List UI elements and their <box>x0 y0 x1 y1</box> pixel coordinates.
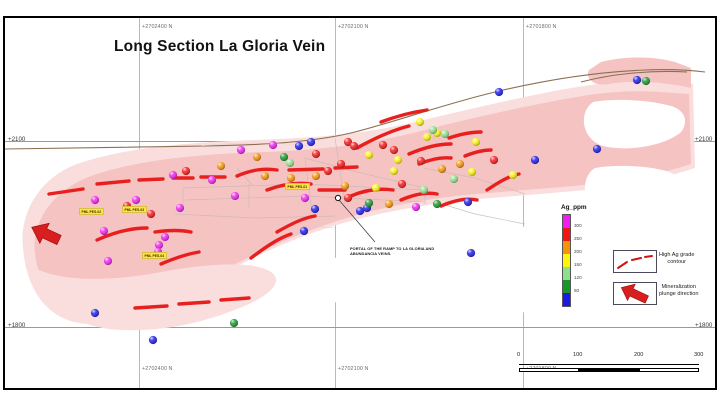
assay-point <box>467 249 475 257</box>
assay-point <box>433 200 441 208</box>
scale-bar-segment-3 <box>639 368 699 372</box>
legend-label-line1: Mineralization <box>659 284 699 291</box>
assay-point <box>100 227 108 235</box>
assay-point <box>155 241 163 249</box>
assay-point <box>394 156 402 164</box>
northing-label-top-1: +2702400 N <box>142 24 173 30</box>
assay-point <box>324 167 332 175</box>
scale-tick-3: 300 <box>694 352 703 358</box>
assay-point <box>438 165 446 173</box>
scale-bar-segment-2 <box>579 368 639 372</box>
assay-point <box>593 145 601 153</box>
assay-point <box>429 126 437 134</box>
assay-point <box>379 141 387 149</box>
assay-point <box>356 207 364 215</box>
assay-point <box>307 138 315 146</box>
assay-point <box>390 167 398 175</box>
drill-hole-label: PML PES-01 <box>285 183 310 190</box>
assay-point <box>464 198 472 206</box>
assay-point <box>365 151 373 159</box>
assay-point <box>341 182 349 190</box>
drill-hole-label: PML PES-03 <box>122 206 147 213</box>
assay-point <box>161 233 169 241</box>
assay-point <box>286 159 294 167</box>
colorbar-title: Ag_ppm <box>561 204 587 211</box>
northing-label-top-3: +2701800 N <box>526 24 557 30</box>
assay-point <box>441 130 449 138</box>
colorbar-segment <box>563 267 570 280</box>
assay-point <box>287 174 295 182</box>
assay-point <box>217 162 225 170</box>
assay-point <box>398 180 406 188</box>
legend-label-line1: High Ag grade <box>659 252 694 259</box>
assay-point <box>468 168 476 176</box>
colorbar-segment <box>563 228 570 241</box>
assay-point <box>423 133 431 141</box>
assay-point <box>344 194 352 202</box>
legend-label-mineralization-plunge-direction: Mineralization plunge direction <box>659 284 699 298</box>
colorbar-tick-label: 300 <box>574 223 582 228</box>
elevation-label-right-2100: +2100 <box>695 136 712 143</box>
assay-point <box>495 88 503 96</box>
assay-point <box>531 156 539 164</box>
colorbar-tick-label: 250 <box>574 236 582 241</box>
northing-label-bottom-1: +2702400 N <box>142 366 173 372</box>
assay-point <box>208 176 216 184</box>
legend-swatch-mineralization-plunge-direction <box>613 282 657 305</box>
assay-point <box>412 203 420 211</box>
long-section-figure: N S <box>0 0 720 405</box>
scale-tick-2: 200 <box>634 352 643 358</box>
scale-bar-segment-1 <box>519 368 579 372</box>
assay-point <box>450 175 458 183</box>
portal-annotation-line2: ABUNDANCIA VEINS. <box>350 251 434 256</box>
map-frame: PML PES-02PML PES-03PML PES-04PML PES-01… <box>3 16 717 390</box>
colorbar-segment <box>563 280 570 293</box>
assay-point <box>91 196 99 204</box>
northing-label-top-2: +2702100 N <box>338 24 369 30</box>
colorbar <box>562 214 571 307</box>
assay-point <box>104 257 112 265</box>
elevation-label-left-1800: +1800 <box>8 322 25 329</box>
assay-point <box>237 146 245 154</box>
assay-point <box>261 172 269 180</box>
colorbar-segment <box>563 241 570 254</box>
assay-point <box>385 200 393 208</box>
high-ag-contour-icon <box>614 251 656 272</box>
assay-point <box>176 204 184 212</box>
assay-point <box>149 336 157 344</box>
assay-point <box>417 157 425 165</box>
assay-point <box>230 319 238 327</box>
assay-point <box>91 309 99 317</box>
colorbar-tick-label: 50 <box>574 288 579 293</box>
assay-point <box>350 142 358 150</box>
assay-point <box>295 142 303 150</box>
legend-swatch-high-ag-grade-contour <box>613 250 657 273</box>
assay-points-layer <box>5 18 715 388</box>
colorbar-tick-label: 120 <box>574 275 582 280</box>
elevation-label-left-2100: +2100 <box>8 136 25 143</box>
colorbar-segment <box>563 215 570 228</box>
legend-label-high-ag-grade-contour: High Ag grade contour <box>659 252 694 266</box>
colorbar-tick-label: 150 <box>574 262 582 267</box>
plunge-arrow-icon <box>614 283 656 304</box>
assay-point <box>301 194 309 202</box>
drill-hole-label: PML PES-04 <box>142 252 167 259</box>
colorbar-segment <box>563 254 570 267</box>
assay-point <box>337 160 345 168</box>
assay-point <box>456 160 464 168</box>
assay-point <box>633 76 641 84</box>
drill-hole-label: PML PES-02 <box>79 208 104 215</box>
map-canvas: PML PES-02PML PES-03PML PES-04PML PES-01… <box>5 18 715 388</box>
assay-point <box>280 153 288 161</box>
assay-point <box>472 138 480 146</box>
portal-annotation: PORTAL OF THE RAMP TO LA GLORIA AND ABUN… <box>350 246 434 257</box>
assay-point <box>365 199 373 207</box>
assay-point <box>416 118 424 126</box>
legend-label-line2: plunge direction <box>659 291 699 298</box>
assay-point <box>311 205 319 213</box>
assay-point <box>269 141 277 149</box>
colorbar-segment <box>563 293 570 306</box>
assay-point <box>253 153 261 161</box>
assay-point <box>372 184 380 192</box>
scale-tick-1: 100 <box>573 352 582 358</box>
assay-point <box>312 172 320 180</box>
assay-point <box>182 167 190 175</box>
legend-label-line2: contour <box>659 259 694 266</box>
elevation-label-right-1800: +1800 <box>695 322 712 329</box>
colorbar-tick-label: 200 <box>574 249 582 254</box>
assay-point <box>490 156 498 164</box>
assay-point <box>509 171 517 179</box>
assay-point <box>420 186 428 194</box>
assay-point <box>132 196 140 204</box>
assay-point <box>312 150 320 158</box>
assay-point <box>642 77 650 85</box>
assay-point <box>231 192 239 200</box>
northing-label-bottom-2: +2702100 N <box>338 366 369 372</box>
assay-point <box>300 227 308 235</box>
assay-point <box>390 146 398 154</box>
assay-point <box>147 210 155 218</box>
page-title: Long Section La Gloria Vein <box>114 38 325 56</box>
assay-point <box>169 171 177 179</box>
scale-bar-baseline <box>519 364 699 365</box>
scale-tick-0: 0 <box>517 352 520 358</box>
